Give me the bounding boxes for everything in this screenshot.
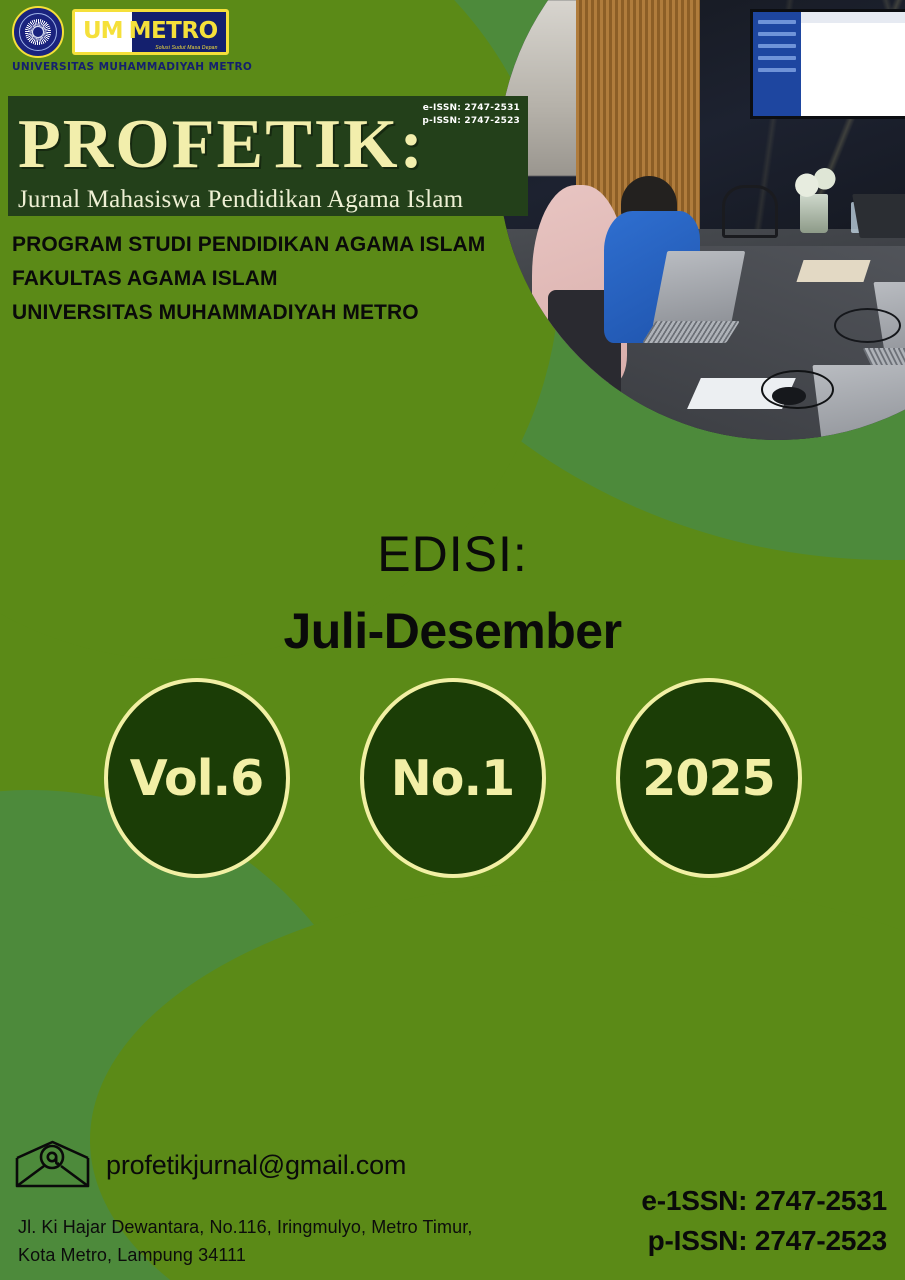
address-line-2: Kota Metro, Lampung 34111: [18, 1242, 472, 1270]
university-seal-icon: [12, 6, 64, 58]
contact-email[interactable]: profetikjurnal@gmail.com: [106, 1150, 406, 1181]
edition-label: EDISI:: [0, 528, 905, 581]
issn-block: e-1SSN: 2747-2531 p-ISSN: 2747-2523: [641, 1181, 887, 1262]
journal-cover: UM METRO Solusi Sudut Masa Depan UNIVERS…: [0, 0, 905, 1280]
edition-value: Juli-Desember: [0, 605, 905, 658]
university-logo: UM METRO Solusi Sudut Masa Depan UNIVERS…: [12, 6, 232, 73]
address-line-1: Jl. Ki Hajar Dewantara, No.116, Iringmul…: [18, 1214, 472, 1242]
year-circle: 2025: [616, 678, 802, 878]
volume-circle: Vol.6: [104, 678, 290, 878]
program-line-3: UNIVERSITAS MUHAMMADIYAH METRO: [12, 296, 485, 330]
logo-metro-text: METRO: [129, 20, 218, 43]
banner-e-issn: e-ISSN: 2747-2531: [422, 102, 520, 115]
logo-um-text: UM: [83, 20, 123, 43]
contact-address: Jl. Ki Hajar Dewantara, No.116, Iringmul…: [18, 1214, 472, 1270]
university-name: UNIVERSITAS MUHAMMADIYAH METRO: [12, 61, 252, 73]
um-metro-wordmark: UM METRO Solusi Sudut Masa Depan: [72, 9, 229, 55]
wall-monitor-icon: [750, 9, 905, 119]
envelope-at-icon: [14, 1140, 92, 1190]
contact-email-row: profetikjurnal@gmail.com: [14, 1140, 406, 1190]
program-line-2: FAKULTAS AGAMA ISLAM: [12, 262, 485, 296]
journal-title: PROFETIK:: [18, 110, 425, 180]
number-circle: No.1: [360, 678, 546, 878]
logo-tagline: Solusi Sudut Masa Depan: [155, 45, 217, 51]
e-issn-value: e-1SSN: 2747-2531: [641, 1181, 887, 1222]
cover-photo-scene: [498, 0, 905, 440]
edition-block: EDISI: Juli-Desember: [0, 528, 905, 657]
program-affiliation: PROGRAM STUDI PENDIDIKAN AGAMA ISLAM FAK…: [12, 228, 485, 330]
program-line-1: PROGRAM STUDI PENDIDIKAN AGAMA ISLAM: [12, 228, 485, 262]
banner-p-issn: p-ISSN: 2747-2523: [422, 115, 520, 128]
journal-title-banner: e-ISSN: 2747-2531 p-ISSN: 2747-2523 PROF…: [8, 96, 528, 216]
p-issn-value: p-ISSN: 2747-2523: [641, 1221, 887, 1262]
journal-subtitle: Jurnal Mahasiswa Pendidikan Agama Islam: [18, 187, 463, 212]
banner-issn-block: e-ISSN: 2747-2531 p-ISSN: 2747-2523: [422, 102, 520, 128]
cover-photo: [498, 0, 905, 440]
issue-circles: Vol.6 No.1 2025: [0, 678, 905, 878]
